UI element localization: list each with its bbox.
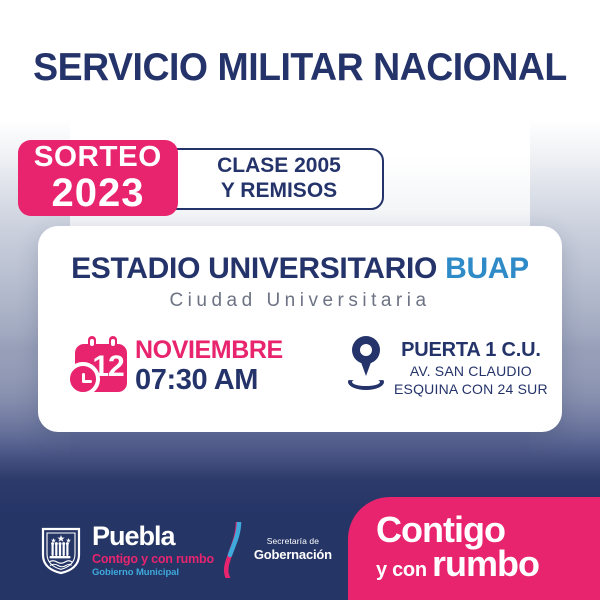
venue-name-main: ESTADIO UNIVERSITARIO [71,252,445,285]
clase-line-1: CLASE 2005 [217,154,341,179]
puebla-tagline: Contigo y con rumbo [92,553,214,566]
event-time: 07:30 AM [135,366,283,395]
clase-line-2: Y REMISOS [221,179,337,204]
slogan-line-2-big: rumbo [432,543,539,584]
secretaria-lockup: Secretaría de Gobernación [254,537,332,563]
slogan-line-1: Contigo [376,513,539,546]
event-month: NOVIEMBRE [135,338,283,363]
page-title: SERVICIO MILITAR NACIONAL [12,46,588,90]
secretaria-name: Gobernación [254,548,332,563]
pin-shadow [348,374,384,390]
calendar-notch-right [111,339,115,346]
date-block: 12 NOVIEMBRE 07:30 AM [66,336,283,396]
puebla-coat-of-arms-icon [40,525,82,575]
pin-dot [360,344,372,356]
secretaria-prefix: Secretaría de [254,537,332,547]
details-card: ESTADIO UNIVERSITARIO BUAP Ciudad Univer… [38,226,562,432]
sorteo-label: SORTEO [34,143,162,172]
puebla-name: Puebla [92,523,214,550]
slogan-text: Contigo y con rumbo [376,513,539,580]
slogan-line-2: y con rumbo [376,547,539,580]
place-address-line-2: ESQUINA CON 24 SUR [394,381,548,399]
place-title: PUERTA 1 C.U. [394,338,548,363]
slogan-line-2-small: y con [376,559,432,581]
calendar-notch-left [90,339,94,346]
clock-icon [66,362,100,396]
puebla-wordmark: Puebla Contigo y con rumbo Gobierno Muni… [92,523,214,578]
calendar-clock-icon: 12 [66,336,128,396]
place-block: PUERTA 1 C.U. AV. SAN CLAUDIO ESQUINA CO… [344,334,548,398]
place-text: PUERTA 1 C.U. AV. SAN CLAUDIO ESQUINA CO… [394,334,548,398]
poster-canvas: SERVICIO MILITAR NACIONAL SORTEO 2023 CL… [0,0,600,600]
venue-subtitle: Ciudad Universitaria [38,290,562,312]
footer-logos: Puebla Contigo y con rumbo Gobierno Muni… [40,522,332,578]
place-address-line-1: AV. SAN CLAUDIO [394,363,548,381]
puebla-subtitle: Gobierno Municipal [92,568,214,578]
venue-name-accent: BUAP [445,252,529,285]
swoosh-divider-icon [224,522,246,578]
sorteo-badge: SORTEO 2023 [18,140,178,216]
date-text: NOVIEMBRE 07:30 AM [135,338,283,395]
venue-name: ESTADIO UNIVERSITARIO BUAP [38,252,562,286]
slogan-block: Contigo y con rumbo [348,497,600,600]
location-pin-icon [344,334,388,396]
sorteo-year: 2023 [52,173,145,213]
clase-box: CLASE 2005 Y REMISOS [152,148,384,210]
